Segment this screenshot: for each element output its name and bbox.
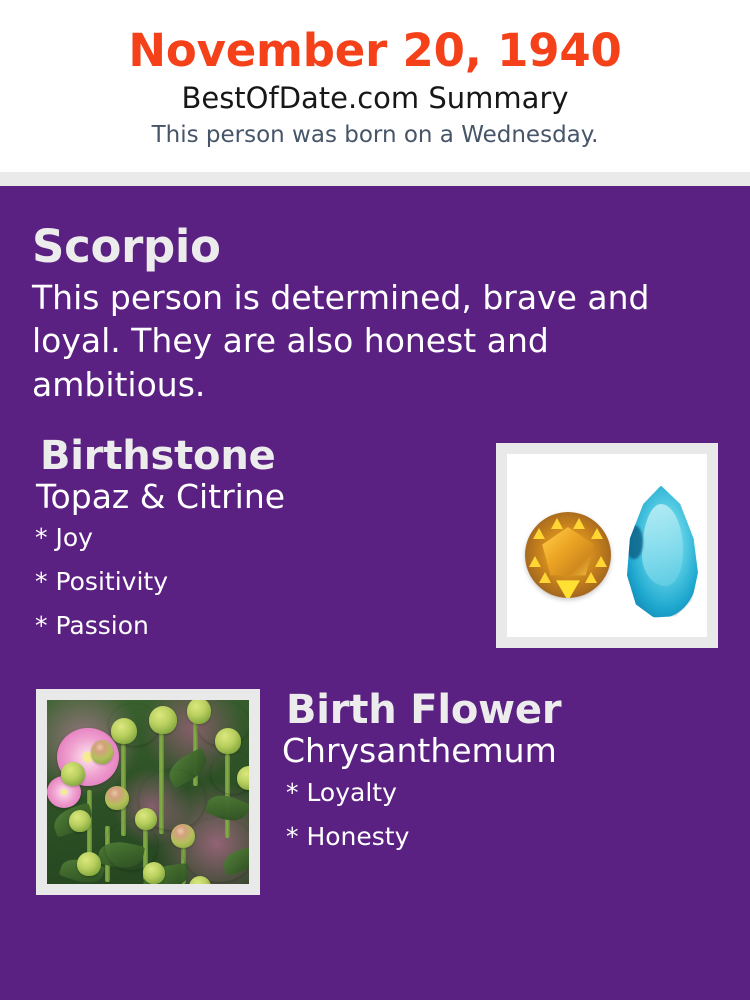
topaz-gem-icon — [624, 486, 698, 618]
chrysanthemum-illustration — [47, 700, 249, 884]
list-item: * Positivity — [35, 569, 496, 594]
list-item: * Passion — [35, 613, 496, 638]
page-title: November 20, 1940 — [0, 26, 750, 76]
zodiac-section: Scorpio This person is determined, brave… — [0, 186, 750, 407]
birthstone-text-block: Birthstone Topaz & Citrine * Joy * Posit… — [32, 435, 496, 658]
birthstone-section: Birthstone Topaz & Citrine * Joy * Posit… — [0, 435, 750, 658]
birthstone-name: Topaz & Citrine — [36, 479, 496, 516]
header-divider — [0, 172, 750, 186]
zodiac-description: This person is determined, brave and loy… — [32, 276, 702, 407]
list-item: * Honesty — [286, 824, 718, 849]
page-header: November 20, 1940 BestOfDate.com Summary… — [0, 0, 750, 172]
birth-flower-traits-list: * Loyalty * Honesty — [286, 780, 718, 849]
site-subtitle: BestOfDate.com Summary — [0, 81, 750, 116]
birth-flower-photo-frame — [36, 689, 260, 895]
list-item: * Loyalty — [286, 780, 718, 805]
birth-flower-photo — [47, 700, 249, 884]
birth-flower-section: Birth Flower Chrysanthemum * Loyalty * H… — [0, 689, 750, 895]
birthstone-photo-frame — [496, 443, 718, 648]
birthstone-photo — [507, 454, 707, 637]
list-item: * Joy — [35, 525, 496, 550]
birth-flower-text-block: Birth Flower Chrysanthemum * Loyalty * H… — [260, 689, 718, 868]
gemstone-illustration — [507, 454, 707, 637]
citrine-gem-icon — [525, 512, 611, 598]
birthstone-heading: Birthstone — [40, 435, 496, 477]
summary-panel: Scorpio This person is determined, brave… — [0, 186, 750, 1000]
birth-flower-heading: Birth Flower — [286, 689, 718, 731]
birthstone-traits-list: * Joy * Positivity * Passion — [40, 525, 496, 638]
birth-flower-name: Chrysanthemum — [282, 733, 718, 770]
zodiac-sign-title: Scorpio — [32, 224, 718, 270]
birth-day-note: This person was born on a Wednesday. — [0, 122, 750, 150]
